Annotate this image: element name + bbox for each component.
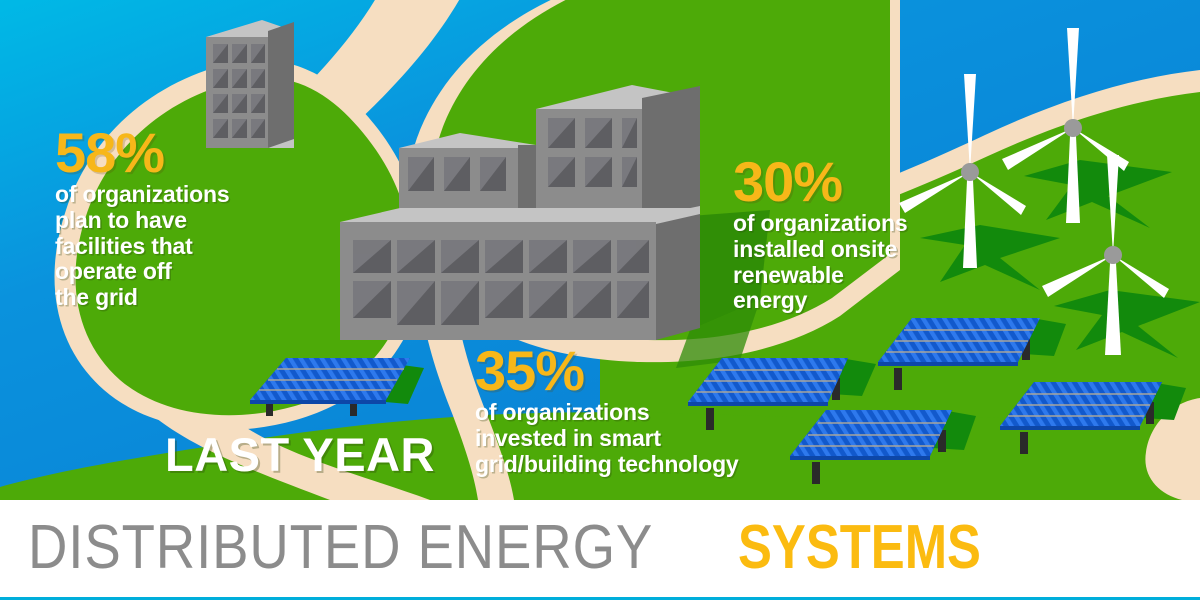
stat-description: of organizations plan to have facilities… [55, 182, 229, 311]
stat-line: facilities that [55, 234, 229, 260]
page-title-main: DISTRIBUTED ENERGY [28, 512, 653, 584]
stat-callout-35: 35% of organizations invested in smart g… [475, 344, 739, 477]
stat-line: of organizations [475, 400, 739, 426]
stat-line: installed onsite [733, 237, 907, 263]
stat-line: invested in smart [475, 426, 739, 452]
title-bar: DISTRIBUTED ENERGY SYSTEMS ·· [0, 500, 1200, 600]
stat-description: of organizations installed onsite renewa… [733, 211, 907, 314]
stat-line: of organizations [733, 211, 907, 237]
stat-line: the grid [55, 285, 229, 311]
infographic-canvas: 58% of organizations plan to have facili… [0, 0, 1200, 600]
stat-percent: 30% [733, 155, 907, 208]
stat-line: energy [733, 288, 907, 314]
stat-callout-58: 58% of organizations plan to have facili… [55, 126, 229, 311]
stat-line: renewable [733, 263, 907, 289]
last-year-label: LAST YEAR [165, 431, 435, 478]
page-title: DISTRIBUTED ENERGY SYSTEMS [28, 512, 1035, 584]
stat-line: operate off [55, 259, 229, 285]
stat-line: plan to have [55, 208, 229, 234]
stat-percent: 58% [55, 126, 229, 179]
stat-description: of organizations invested in smart grid/… [475, 400, 739, 477]
stat-percent: 35% [475, 344, 739, 397]
stat-line: of organizations [55, 182, 229, 208]
stat-line: grid/building technology [475, 452, 739, 478]
stat-callout-30: 30% of organizations installed onsite re… [733, 155, 907, 314]
page-title-accent: SYSTEMS [738, 512, 981, 584]
